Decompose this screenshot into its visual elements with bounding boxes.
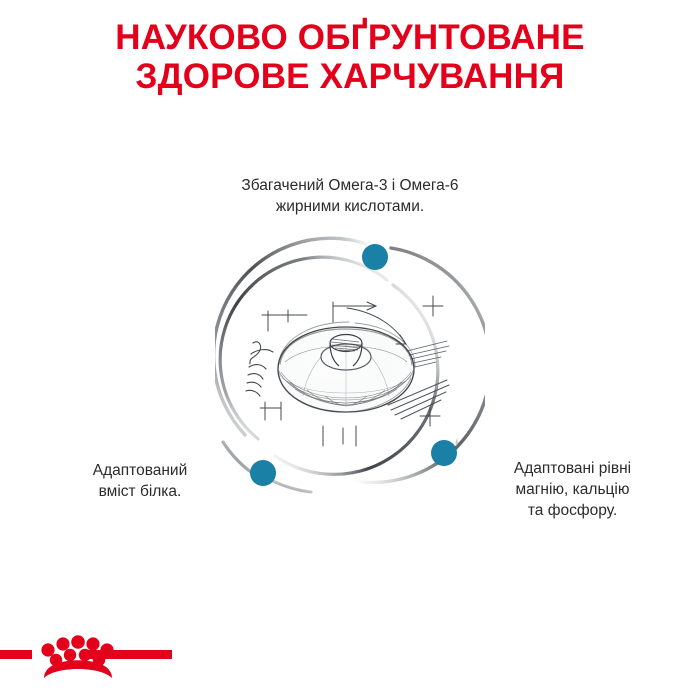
page-title-line-1: НАУКОВО ОБҐРУНТОВАНЕ [0, 18, 700, 57]
accent-dot-top [362, 244, 388, 270]
callout-protein-content: Адаптований вміст білка. [40, 460, 240, 502]
page-title: НАУКОВО ОБҐРУНТОВАНЕ ЗДОРОВЕ ХАРЧУВАННЯ [0, 18, 700, 96]
callout-minerals-line-2: магнію, кальцію [465, 479, 680, 500]
accent-dot-bottom-right [431, 440, 457, 466]
callout-minerals-levels: Адаптовані рівні магнію, кальцію та фосф… [465, 458, 680, 521]
callout-protein-line-1: Адаптований [40, 460, 240, 481]
callout-omega-fatty-acids: Збагачений Омега-3 і Омега-6 жирними кис… [175, 175, 525, 217]
callout-omega-line-2: жирними кислотами. [175, 196, 525, 217]
callout-protein-line-2: вміст білка. [40, 481, 240, 502]
callout-minerals-line-3: та фосфору. [465, 500, 680, 521]
callout-omega-line-1: Збагачений Омега-3 і Омега-6 [175, 175, 525, 196]
kibble-sketch-diagram [215, 230, 485, 500]
accent-arc-bottom-right [456, 439, 458, 446]
kibble-illustration [246, 296, 449, 446]
royal-canin-crown-logo [0, 622, 172, 684]
logo-bar-left [0, 650, 32, 659]
callout-minerals-line-1: Адаптовані рівні [465, 458, 680, 479]
page-title-line-2: ЗДОРОВЕ ХАРЧУВАННЯ [0, 57, 700, 96]
accent-dot-bottom-left [250, 460, 276, 486]
